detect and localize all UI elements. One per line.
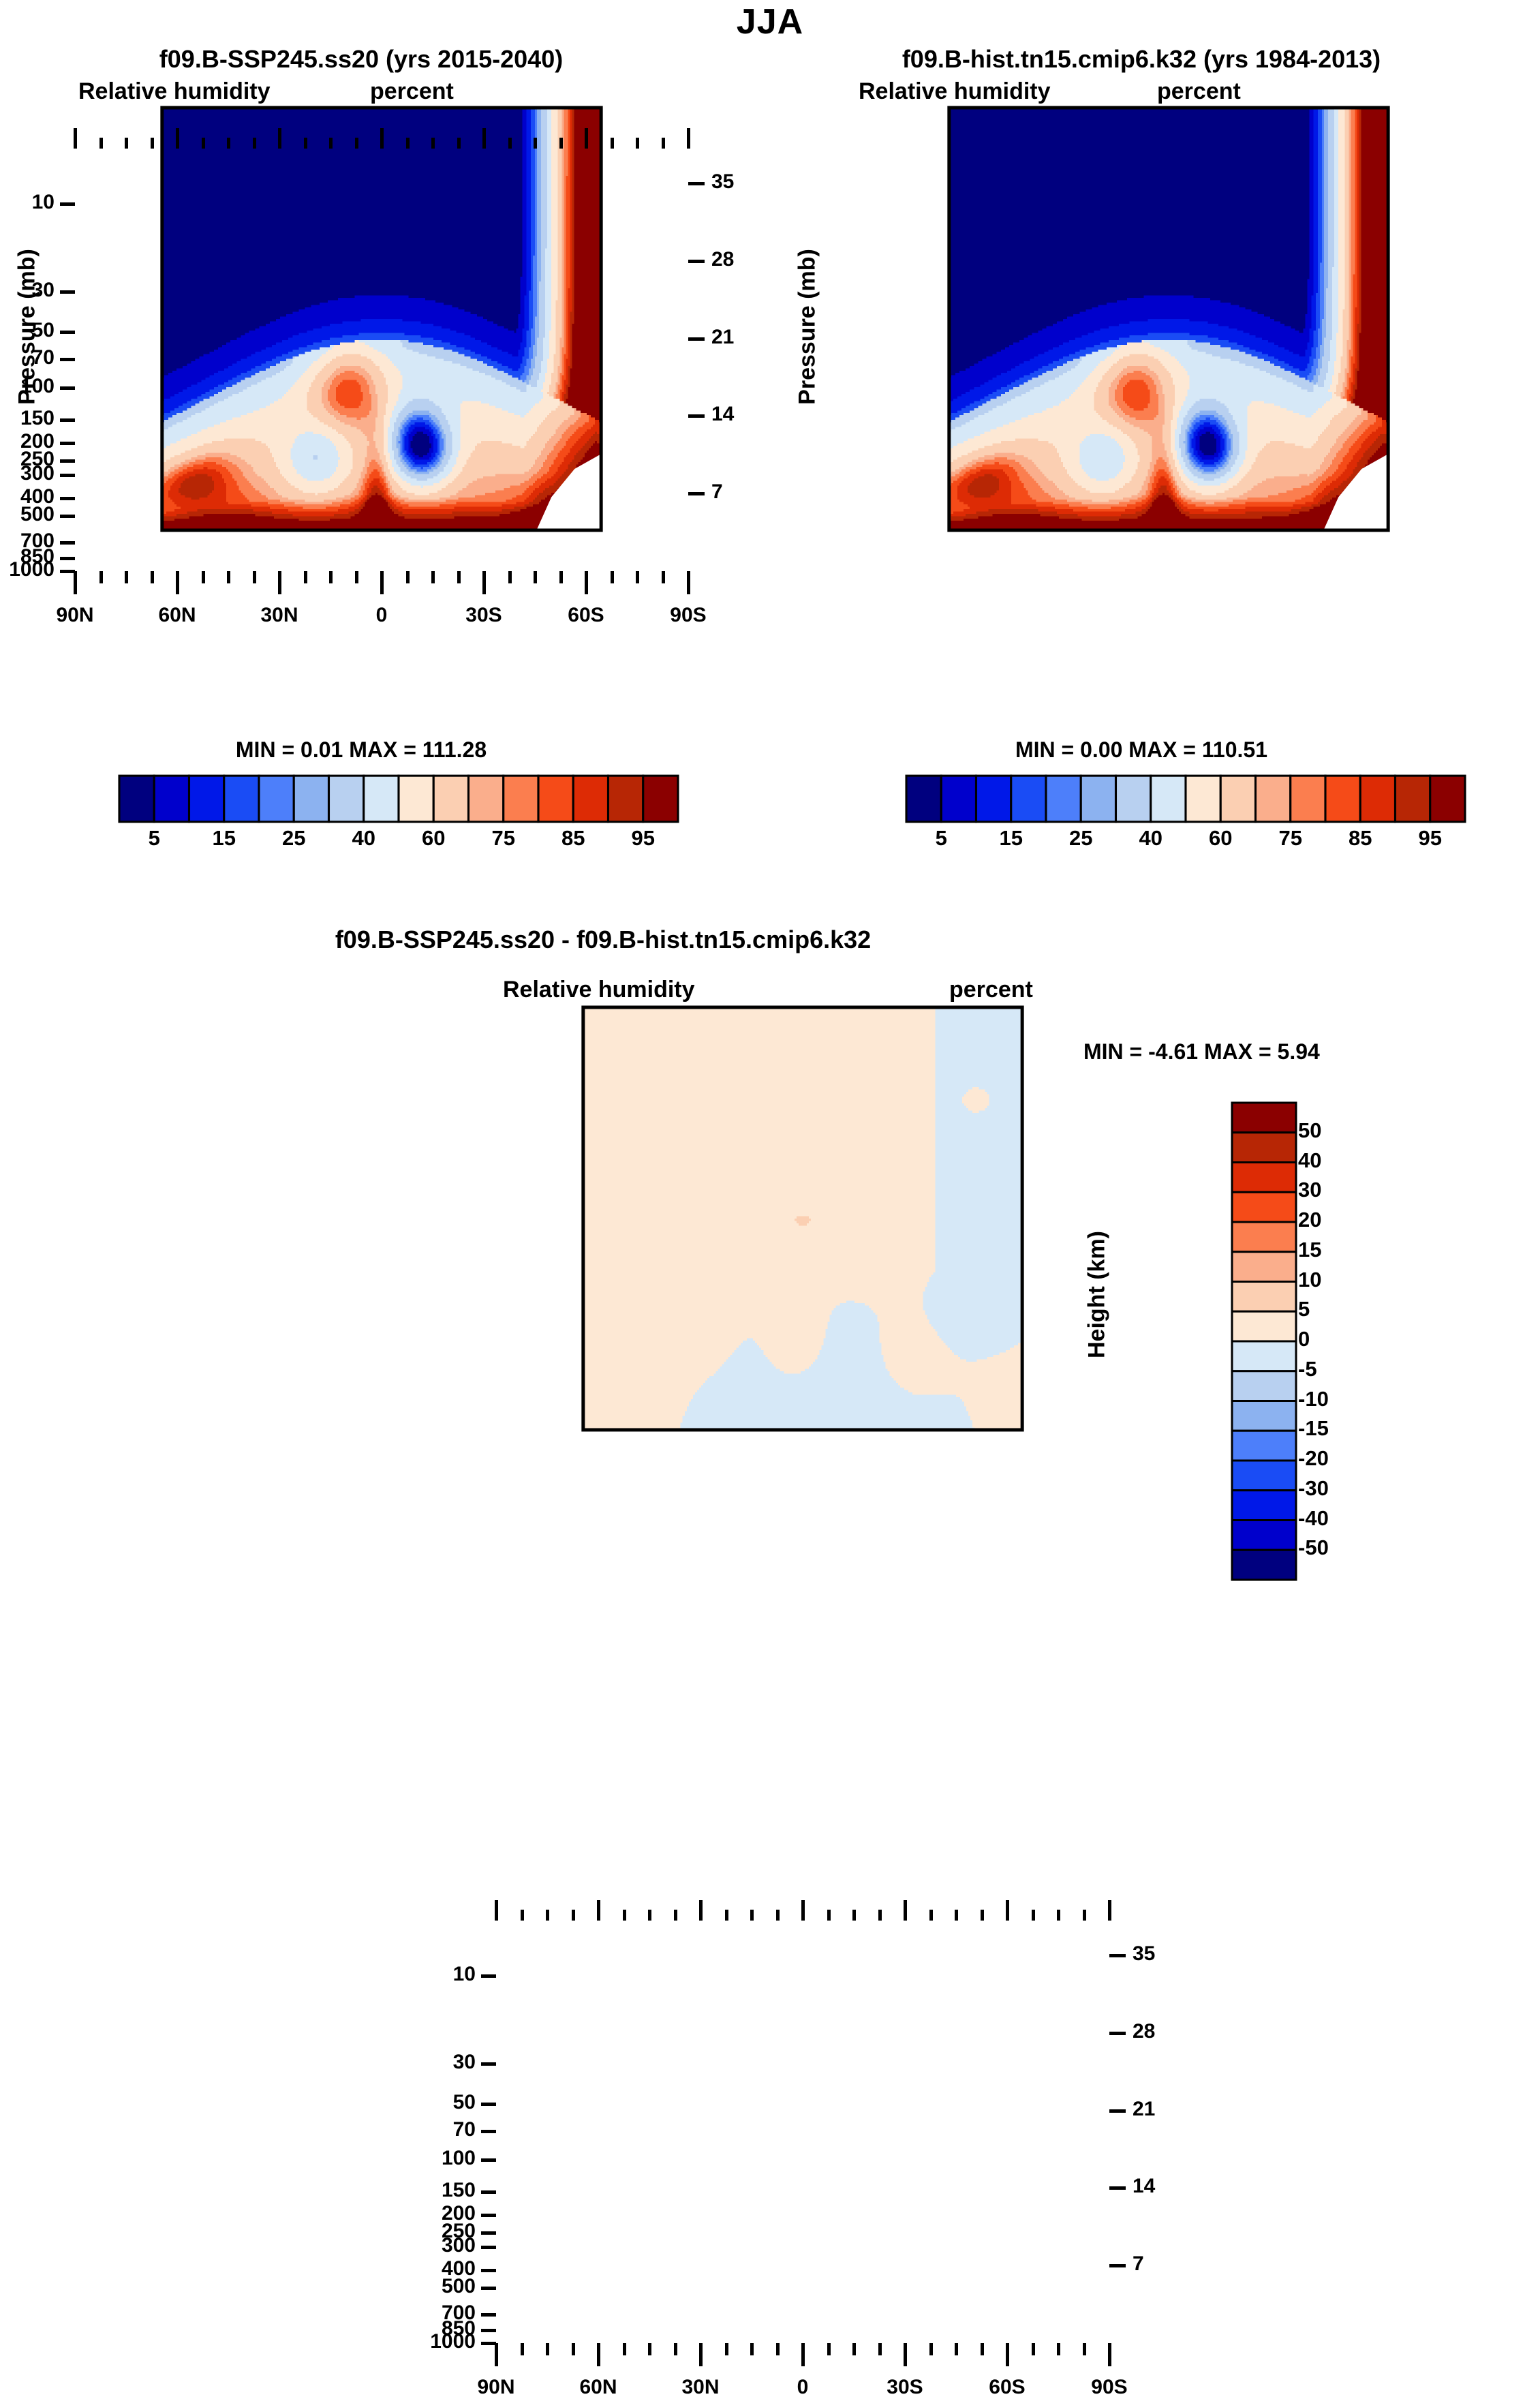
lat-major-tick	[380, 571, 384, 594]
lat-minor-tick	[636, 571, 639, 583]
lat-minor-tick-top	[355, 138, 358, 149]
colorbar-swatch[interactable]	[433, 776, 468, 822]
lat-minor-tick-top	[431, 138, 435, 149]
pressure-tick	[60, 570, 75, 573]
height-tick-label: 35	[711, 170, 773, 194]
latitude-tick-label: 90N	[27, 604, 123, 627]
colorbar-swatch[interactable]	[573, 776, 608, 822]
lat-minor-tick-top	[99, 138, 103, 149]
lat-minor-tick-top	[253, 138, 256, 149]
height-tick	[688, 492, 705, 495]
lat-minor-tick	[227, 571, 230, 583]
lat-minor-tick-top	[406, 138, 410, 149]
lat-minor-tick	[611, 571, 614, 583]
lat-minor-tick	[202, 571, 205, 583]
lat-major-tick-top	[278, 128, 281, 149]
lat-major-tick-top	[380, 128, 384, 149]
latitude-tick-label: 30S	[436, 604, 532, 627]
height-tick	[688, 337, 705, 341]
panel-top-left-axes: 1030507010015020025030040050070085010003…	[0, 41, 770, 811]
pressure-tick	[60, 497, 75, 500]
lat-minor-tick-top	[457, 138, 461, 149]
lat-major-tick	[687, 571, 690, 594]
lat-minor-tick-top	[227, 138, 230, 149]
colorbar-swatch[interactable]	[294, 776, 328, 822]
colorbar-tick-label: 95	[602, 826, 684, 851]
pressure-tick	[60, 386, 75, 390]
lat-major-tick-top	[74, 128, 77, 149]
lat-minor-tick-top	[662, 138, 665, 149]
colorbar-swatch[interactable]	[364, 776, 399, 822]
panel-top-left-colorbar[interactable]	[119, 771, 678, 826]
lat-major-tick-top	[176, 128, 179, 149]
colorbar-swatch[interactable]	[154, 776, 189, 822]
latitude-tick-label: 60N	[129, 604, 225, 627]
pressure-tick-label: 70	[0, 346, 55, 369]
pressure-tick-label: 300	[0, 462, 55, 485]
pressure-tick	[60, 202, 75, 206]
lat-minor-tick	[355, 571, 358, 583]
latitude-tick-label: 30N	[232, 604, 327, 627]
lat-minor-tick	[151, 571, 154, 583]
pressure-tick-label: 50	[0, 319, 55, 342]
lat-minor-tick-top	[304, 138, 307, 149]
lat-minor-tick-top	[125, 138, 128, 149]
colorbar-swatch[interactable]	[399, 776, 433, 822]
lat-major-tick	[74, 571, 77, 594]
pressure-tick	[60, 358, 75, 361]
lat-minor-tick-top	[534, 138, 537, 149]
lat-major-tick-top	[687, 128, 690, 149]
lat-major-tick-top	[585, 128, 588, 149]
lat-minor-tick-top	[151, 138, 154, 149]
lat-major-tick-top	[482, 128, 486, 149]
pressure-tick	[60, 474, 75, 477]
lat-major-tick	[482, 571, 486, 594]
lat-minor-tick	[329, 571, 333, 583]
lat-major-tick	[278, 571, 281, 594]
lat-minor-tick-top	[202, 138, 205, 149]
height-tick	[688, 260, 705, 263]
lat-minor-tick	[457, 571, 461, 583]
lat-minor-tick-top	[508, 138, 512, 149]
colorbar-swatch[interactable]	[469, 776, 504, 822]
lat-major-tick	[585, 571, 588, 594]
height-tick-label: 7	[711, 480, 773, 504]
height-tick	[688, 182, 705, 185]
latitude-tick-label: 0	[334, 604, 429, 627]
latitude-tick-label: 60S	[538, 604, 634, 627]
pressure-tick	[60, 290, 75, 294]
panel-top-left-minmax: MIN = 0.01 MAX = 111.28	[0, 737, 722, 763]
panel-top-right: f09.B-hist.tn15.cmip6.k32 (yrs 1984-2013…	[770, 41, 1540, 927]
lat-minor-tick	[559, 571, 563, 583]
lat-minor-tick	[534, 571, 537, 583]
colorbar-swatch[interactable]	[259, 776, 294, 822]
colorbar-swatch[interactable]	[189, 776, 224, 822]
colorbar-swatch[interactable]	[329, 776, 364, 822]
lat-minor-tick	[99, 571, 103, 583]
colorbar-swatch[interactable]	[609, 776, 643, 822]
pressure-tick-label: 500	[0, 503, 55, 526]
figure-title: JJA	[0, 1, 1540, 42]
pressure-tick	[60, 418, 75, 422]
pressure-tick	[60, 541, 75, 545]
pressure-tick-label: 30	[0, 279, 55, 302]
colorbar-swatch[interactable]	[643, 776, 678, 822]
latitude-tick-label: 90S	[641, 604, 736, 627]
panel-top-left-colorbar-labels: 515254060758595	[119, 826, 678, 857]
lat-major-tick	[176, 571, 179, 594]
pressure-tick-label: 10	[0, 191, 55, 214]
colorbar-swatch[interactable]	[119, 776, 154, 822]
lat-minor-tick	[304, 571, 307, 583]
pressure-tick	[60, 459, 75, 463]
pressure-tick-label: 150	[0, 407, 55, 430]
lat-minor-tick-top	[329, 138, 333, 149]
lat-minor-tick-top	[559, 138, 563, 149]
pressure-tick	[60, 331, 75, 334]
lat-minor-tick	[406, 571, 410, 583]
lat-minor-tick	[125, 571, 128, 583]
pressure-tick	[60, 442, 75, 445]
colorbar-swatch[interactable]	[504, 776, 538, 822]
lat-minor-tick	[253, 571, 256, 583]
lat-minor-tick	[431, 571, 435, 583]
colorbar-swatch[interactable]	[224, 776, 259, 822]
colorbar-swatch[interactable]	[538, 776, 573, 822]
pressure-tick-label: 100	[0, 375, 55, 398]
height-tick	[688, 414, 705, 418]
lat-minor-tick	[662, 571, 665, 583]
pressure-tick-label: 1000	[0, 558, 55, 581]
panel-top-left: f09.B-SSP245.ss20 (yrs 2015-2040) Relati…	[0, 41, 770, 927]
pressure-tick	[60, 557, 75, 560]
height-tick-label: 21	[711, 326, 773, 349]
lat-minor-tick	[508, 571, 512, 583]
height-tick-label: 14	[711, 403, 773, 426]
lat-minor-tick-top	[611, 138, 614, 149]
height-tick-label: 28	[711, 248, 773, 271]
pressure-tick	[60, 515, 75, 518]
lat-minor-tick-top	[636, 138, 639, 149]
